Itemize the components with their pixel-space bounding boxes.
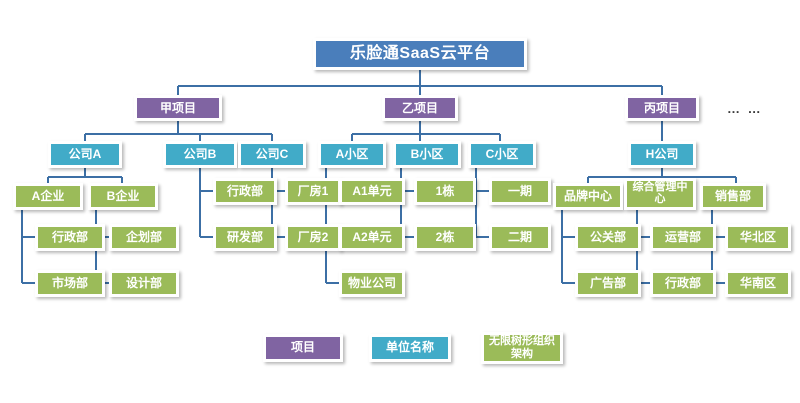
node-dept-admin-h-label: 行政部: [663, 277, 703, 290]
node-dept-phase-2-label: 二期: [506, 231, 534, 244]
node-dept-phase-1-label: 一期: [506, 185, 534, 198]
node-dept-advertising-label: 广告部: [588, 277, 628, 290]
node-project-bing[interactable]: 丙项目: [625, 95, 699, 121]
legend-item-project: 项目: [263, 334, 343, 362]
node-dept-admin-b-label: 行政部: [225, 185, 265, 198]
node-dept-operations[interactable]: 运营部: [650, 224, 716, 251]
node-unit-company-h-label: H公司: [644, 148, 681, 161]
node-dept-rnd[interactable]: 研发部: [213, 224, 277, 251]
node-dept-enterprise-a-label: A企业: [30, 190, 67, 203]
node-dept-property-company[interactable]: 物业公司: [339, 270, 405, 297]
node-unit-area-c-label: C小区: [484, 148, 521, 161]
node-unit-area-a[interactable]: A小区: [318, 141, 386, 168]
node-dept-building-1[interactable]: 1栋: [414, 178, 476, 205]
node-dept-property-company-label: 物业公司: [346, 277, 398, 290]
node-dept-north-region[interactable]: 华北区: [725, 224, 791, 251]
node-dept-building-1-label: 1栋: [434, 185, 457, 198]
node-unit-company-c[interactable]: 公司C: [238, 141, 306, 168]
node-unit-area-b-label: B小区: [409, 148, 446, 161]
node-unit-company-a[interactable]: 公司A: [48, 141, 122, 168]
node-dept-design-label: 设计部: [124, 277, 164, 290]
node-dept-factory-2[interactable]: 厂房2: [285, 224, 341, 251]
node-dept-brand-center-label: 品牌中心: [562, 190, 614, 203]
node-dept-general-management-center[interactable]: 综合管理中心: [624, 178, 696, 210]
node-unit-company-b[interactable]: 公司B: [163, 141, 237, 168]
node-dept-admin-b[interactable]: 行政部: [213, 178, 277, 205]
node-dept-building-2-label: 2栋: [434, 231, 457, 244]
node-dept-unit-a1-label: A1单元: [350, 185, 393, 198]
legend-item-unit-name-label: 单位名称: [386, 341, 434, 355]
node-dept-phase-1[interactable]: 一期: [489, 178, 551, 205]
node-dept-public-relations[interactable]: 公关部: [575, 224, 641, 251]
node-dept-admin-a-label: 行政部: [50, 231, 90, 244]
node-root[interactable]: 乐脸通SaaS云平台: [313, 38, 527, 70]
node-dept-north-region-label: 华北区: [738, 231, 778, 244]
node-dept-enterprise-b-label: B企业: [105, 190, 142, 203]
org-chart-canvas: 乐脸通SaaS云平台 甲项目 乙项目 丙项目 … … 公司A 公司B 公司C A…: [0, 0, 800, 403]
legend-item-unit-name: 单位名称: [369, 334, 451, 362]
node-dept-admin-a[interactable]: 行政部: [35, 224, 105, 251]
node-project-jia[interactable]: 甲项目: [134, 95, 222, 121]
node-unit-area-c[interactable]: C小区: [468, 141, 536, 168]
node-project-jia-label: 甲项目: [158, 102, 198, 115]
legend-item-tree-structure: 无限树形组织架构: [481, 332, 563, 364]
node-dept-sales[interactable]: 销售部: [700, 183, 766, 210]
node-dept-planning[interactable]: 企划部: [109, 224, 179, 251]
node-unit-company-a-label: 公司A: [67, 148, 104, 161]
node-dept-planning-label: 企划部: [124, 231, 164, 244]
node-dept-unit-a2-label: A2单元: [350, 231, 393, 244]
node-dept-enterprise-b[interactable]: B企业: [88, 183, 158, 210]
node-dept-factory-1[interactable]: 厂房1: [285, 178, 341, 205]
node-dept-rnd-label: 研发部: [225, 231, 265, 244]
node-unit-company-c-label: 公司C: [254, 148, 291, 161]
node-dept-marketing-label: 市场部: [50, 277, 90, 290]
node-dept-admin-h[interactable]: 行政部: [650, 270, 716, 297]
node-unit-company-h[interactable]: H公司: [628, 141, 696, 168]
node-project-yi[interactable]: 乙项目: [382, 95, 458, 121]
more-projects-ellipsis: … …: [727, 101, 763, 116]
node-dept-sales-label: 销售部: [713, 190, 753, 203]
node-dept-building-2[interactable]: 2栋: [414, 224, 476, 251]
node-dept-unit-a2[interactable]: A2单元: [339, 224, 405, 251]
node-dept-marketing[interactable]: 市场部: [35, 270, 105, 297]
node-dept-public-relations-label: 公关部: [588, 231, 628, 244]
node-dept-operations-label: 运营部: [663, 231, 703, 244]
node-project-bing-label: 丙项目: [642, 102, 682, 115]
node-dept-design[interactable]: 设计部: [109, 270, 179, 297]
node-root-label: 乐脸通SaaS云平台: [348, 46, 492, 63]
node-dept-south-region[interactable]: 华南区: [725, 270, 791, 297]
node-dept-phase-2[interactable]: 二期: [489, 224, 551, 251]
legend-item-tree-structure-label: 无限树形组织架构: [484, 335, 560, 360]
node-dept-south-region-label: 华南区: [738, 277, 778, 290]
node-dept-enterprise-a[interactable]: A企业: [13, 183, 83, 210]
node-unit-company-b-label: 公司B: [182, 148, 219, 161]
node-dept-brand-center[interactable]: 品牌中心: [553, 183, 623, 210]
node-dept-factory-2-label: 厂房2: [296, 231, 331, 244]
node-project-yi-label: 乙项目: [400, 102, 440, 115]
node-unit-area-a-label: A小区: [334, 148, 371, 161]
node-dept-general-management-center-label: 综合管理中心: [627, 182, 693, 205]
node-unit-area-b[interactable]: B小区: [393, 141, 461, 168]
legend-item-project-label: 项目: [291, 341, 315, 355]
node-dept-advertising[interactable]: 广告部: [575, 270, 641, 297]
node-dept-factory-1-label: 厂房1: [296, 185, 331, 198]
node-dept-unit-a1[interactable]: A1单元: [339, 178, 405, 205]
